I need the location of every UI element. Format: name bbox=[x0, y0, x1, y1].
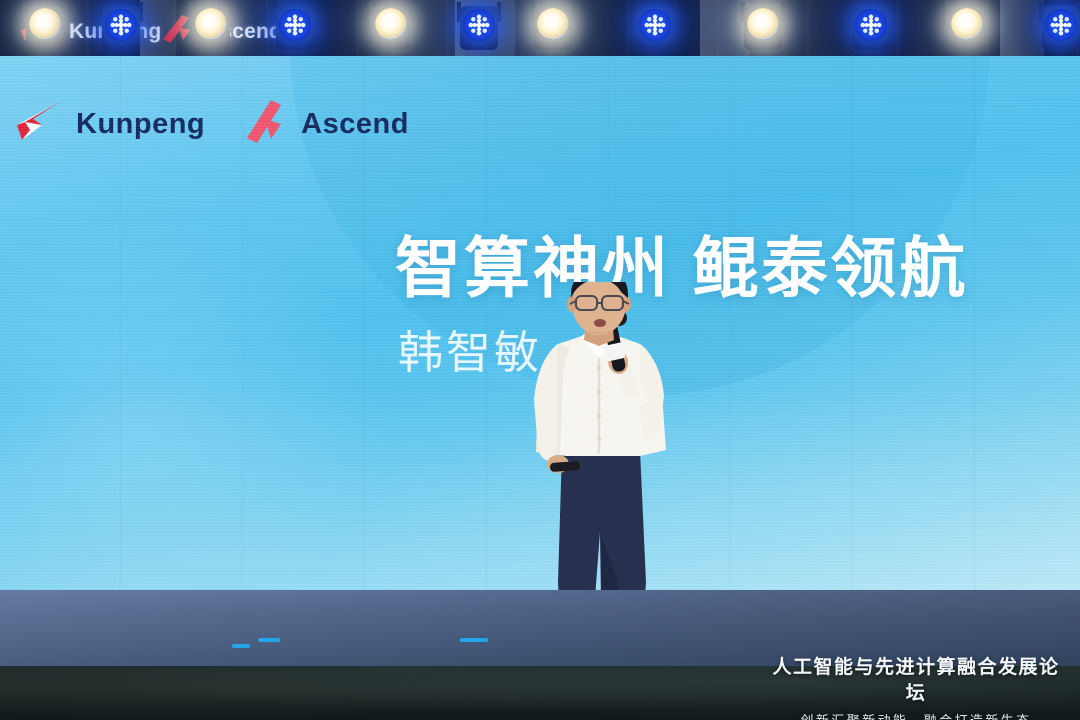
event-subtitle: 创新汇聚新动能 融合打造新生态 bbox=[766, 710, 1066, 720]
stage-photo: Kunpeng Ascend bbox=[0, 0, 1080, 720]
ascend-logo-icon bbox=[243, 98, 289, 151]
blue-led-par-light bbox=[632, 2, 678, 54]
event-title: 人工智能与先进计算融合发展论坛 bbox=[766, 655, 1066, 706]
screen-kunpeng-label: Kunpeng bbox=[76, 108, 205, 141]
floor-marker bbox=[460, 638, 488, 642]
screen-kunpeng-logo: Kunpeng bbox=[14, 98, 205, 151]
event-branding: 人工智能与先进计算融合发展论坛 创新汇聚新动能 融合打造新生态 bbox=[766, 655, 1066, 720]
white-spotlight bbox=[188, 2, 234, 54]
blue-led-par-light bbox=[456, 2, 502, 54]
floor-marker bbox=[232, 644, 250, 648]
kunpeng-logo-icon bbox=[14, 98, 64, 151]
white-spotlight bbox=[740, 2, 786, 54]
white-spotlight bbox=[368, 2, 414, 54]
screen-ascend-label: Ascend bbox=[301, 108, 409, 141]
blue-led-par-light bbox=[1038, 2, 1080, 54]
blue-led-par-light bbox=[98, 2, 144, 54]
blue-led-par-light bbox=[272, 2, 318, 54]
blue-led-par-light bbox=[848, 2, 894, 54]
white-spotlight bbox=[22, 2, 68, 54]
white-spotlight bbox=[944, 2, 990, 54]
screen-ascend-logo: Ascend bbox=[243, 98, 409, 151]
floor-marker bbox=[258, 638, 280, 642]
wall-pillar bbox=[140, 0, 176, 56]
white-spotlight bbox=[530, 2, 576, 54]
screen-logo-row: Kunpeng Ascend bbox=[14, 98, 409, 151]
